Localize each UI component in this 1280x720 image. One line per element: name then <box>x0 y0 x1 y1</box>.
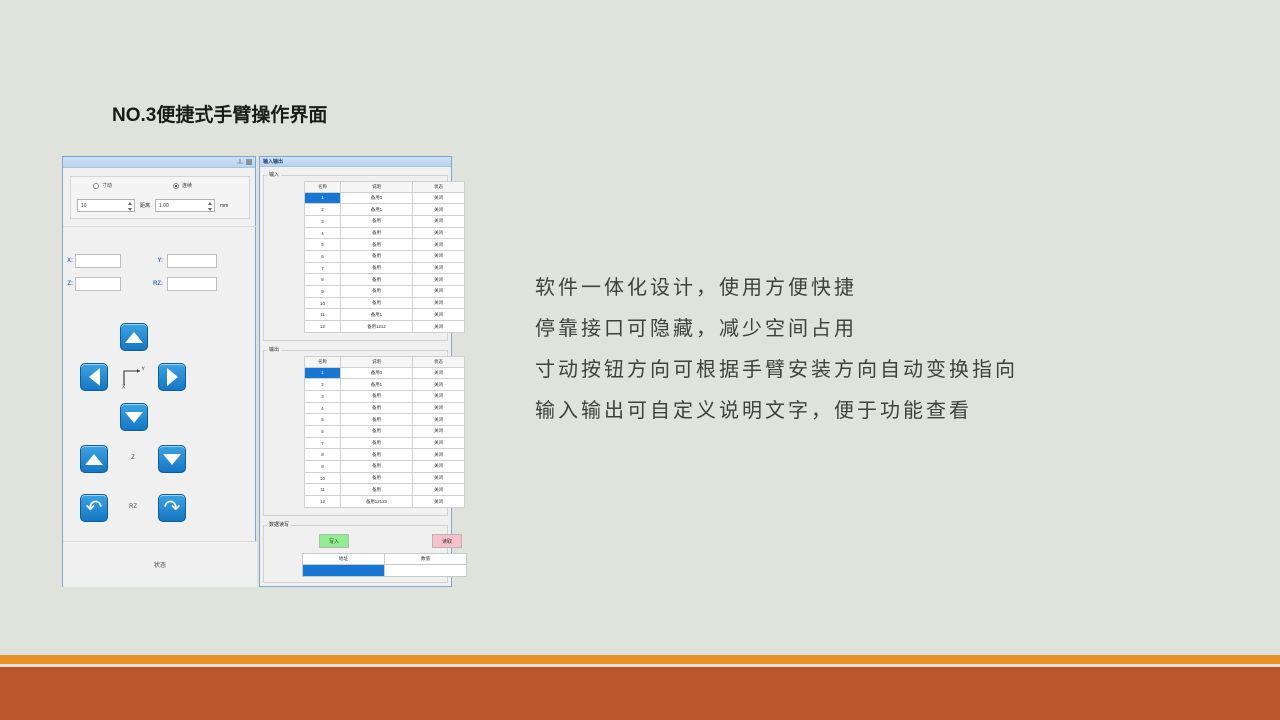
data-readwrite-group: 数据读写 写入 读取 地址 数值 <box>263 525 448 583</box>
cell-no: 10 <box>305 472 341 484</box>
cell-no: 11 <box>305 309 341 321</box>
rw-value-cell[interactable] <box>385 565 467 577</box>
cell-state: 关闭 <box>413 484 465 496</box>
cell-desc: 备用 <box>341 286 413 298</box>
xy-axis-indicator-icon: Y X <box>120 365 146 389</box>
description-line-3: 寸动按钮方向可根据手臂安装方向自动变换指向 <box>535 350 1018 391</box>
table-row[interactable]: 9备用关闭 <box>305 286 465 298</box>
cell-no: 2 <box>305 204 341 216</box>
speed-value: 10 <box>78 203 87 209</box>
table-row[interactable]: 1备用0关闭 <box>305 192 465 204</box>
cell-desc: 备用 <box>341 402 413 414</box>
jog-down-button[interactable] <box>120 403 148 431</box>
col-state: 状态 <box>413 182 465 193</box>
radio-inch-label: 寸动 <box>102 182 112 189</box>
table-row[interactable]: 9备用关闭 <box>305 461 465 473</box>
cell-state: 关闭 <box>413 215 465 227</box>
description-line-2: 停靠接口可隐藏，减少空间占用 <box>535 309 1018 350</box>
cell-desc: 备用 <box>341 449 413 461</box>
io-window: 输入输出 输入 名称 说明 状态 1备用0关闭2备用1关闭3备用关闭4备用关闭5… <box>259 156 452 587</box>
rz-axis-label: RZ <box>120 504 146 510</box>
col-state: 状态 <box>413 357 465 368</box>
jog-window-titlebar <box>63 157 255 168</box>
speed-spinner[interactable]: 10 <box>77 199 135 212</box>
table-row[interactable]: 5备用关闭 <box>305 414 465 426</box>
cell-state: 关闭 <box>413 379 465 391</box>
motion-mode-radios: 寸动 连续 <box>85 182 245 195</box>
rw-group-label: 数据读写 <box>267 521 291 528</box>
output-table[interactable]: 名称 说明 状态 1备用0关闭2备用1关闭3备用关闭4备用关闭5备用关闭6备用关… <box>304 356 465 508</box>
write-button[interactable]: 写入 <box>319 534 349 548</box>
z-label: Z: <box>63 281 73 287</box>
cell-desc: 备用 <box>341 251 413 263</box>
gold-accent-bar <box>0 655 1280 664</box>
coordinate-fields: X: Y: Z: RZ: <box>63 226 257 282</box>
table-row[interactable]: 2备用1关闭 <box>305 379 465 391</box>
cell-no: 10 <box>305 297 341 309</box>
x-field[interactable] <box>75 254 121 268</box>
rw-address-cell[interactable] <box>303 565 385 577</box>
table-row[interactable]: 12备用1212关闭 <box>305 321 465 333</box>
distance-value: 1.00 <box>156 203 169 209</box>
cell-state: 关闭 <box>413 309 465 321</box>
cell-desc: 备用 <box>341 297 413 309</box>
status-bar: 状态 <box>63 541 257 587</box>
cell-state: 关闭 <box>413 204 465 216</box>
arrow-up-icon <box>85 454 103 465</box>
input-group: 输入 名称 说明 状态 1备用0关闭2备用1关闭3备用关闭4备用关闭5备用关闭6… <box>263 175 448 341</box>
cell-no: 12 <box>305 321 341 333</box>
x-label: X: <box>63 258 73 264</box>
cell-state: 关闭 <box>413 449 465 461</box>
radio-dot-icon <box>173 183 179 189</box>
z-axis-label: Z <box>120 455 146 461</box>
application-screenshot: 寸动 连续 10 距离 1.00 <box>62 156 452 587</box>
input-table[interactable]: 名称 说明 状态 1备用0关闭2备用1关闭3备用关闭4备用关闭5备用关闭6备用关… <box>304 181 465 333</box>
cell-no: 3 <box>305 215 341 227</box>
table-row[interactable]: 5备用关闭 <box>305 239 465 251</box>
coordinate-row-zrz: Z: RZ: <box>63 276 257 292</box>
rotate-ccw-icon: ↶ <box>86 498 103 518</box>
io-window-titlebar: 输入输出 <box>260 157 451 167</box>
cell-state: 关闭 <box>413 262 465 274</box>
table-row[interactable]: 8备用关闭 <box>305 449 465 461</box>
cell-state: 关闭 <box>413 227 465 239</box>
pin-icon[interactable] <box>237 159 243 165</box>
io-window-title: 输入输出 <box>263 158 283 165</box>
close-icon[interactable] <box>246 159 252 165</box>
table-row[interactable]: 12备用12123关闭 <box>305 496 465 508</box>
table-row[interactable]: 7备用关闭 <box>305 262 465 274</box>
col-address: 地址 <box>303 554 385 565</box>
rust-footer-bar <box>0 667 1280 720</box>
cell-no: 7 <box>305 437 341 449</box>
table-row[interactable]: 1备用0关闭 <box>305 367 465 379</box>
cell-state: 关闭 <box>413 390 465 402</box>
step-settings-row: 10 距离 1.00 mm <box>77 198 245 213</box>
arrow-up-icon <box>125 332 143 343</box>
cell-no: 4 <box>305 402 341 414</box>
cell-no: 6 <box>305 251 341 263</box>
cell-state: 关闭 <box>413 192 465 204</box>
cell-state: 关闭 <box>413 496 465 508</box>
description-line-4: 输入输出可自定义说明文字，便于功能查看 <box>535 391 1018 432</box>
table-row[interactable]: 10备用关闭 <box>305 297 465 309</box>
cell-no: 5 <box>305 414 341 426</box>
col-value: 数值 <box>385 554 467 565</box>
cell-desc: 备用 <box>341 426 413 438</box>
cell-desc: 备用1 <box>341 204 413 216</box>
cell-desc: 备用 <box>341 437 413 449</box>
col-no: 名称 <box>305 182 341 193</box>
input-group-label: 输入 <box>267 171 281 178</box>
rz-field[interactable] <box>167 277 217 291</box>
cell-state: 关闭 <box>413 274 465 286</box>
cell-state: 关闭 <box>413 472 465 484</box>
cell-desc: 备用 <box>341 414 413 426</box>
output-group-label: 输出 <box>267 346 281 353</box>
table-row[interactable]: 8备用关闭 <box>305 274 465 286</box>
spinner-arrows-icon[interactable] <box>207 201 213 212</box>
cell-no: 8 <box>305 449 341 461</box>
cell-no: 6 <box>305 426 341 438</box>
cell-no: 1 <box>305 192 341 204</box>
arrow-right-icon <box>167 368 178 386</box>
cell-no: 12 <box>305 496 341 508</box>
rw-table-row[interactable] <box>303 565 467 577</box>
read-button[interactable]: 读取 <box>432 534 462 548</box>
cell-desc: 备用12123 <box>341 496 413 508</box>
rw-table[interactable]: 地址 数值 <box>302 553 467 577</box>
cell-state: 关闭 <box>413 251 465 263</box>
z-up-button[interactable] <box>80 445 108 473</box>
col-no: 名称 <box>305 357 341 368</box>
distance-label: 距离 <box>140 202 150 209</box>
cell-desc: 备用0 <box>341 367 413 379</box>
cell-state: 关闭 <box>413 321 465 333</box>
output-group: 输出 名称 说明 状态 1备用0关闭2备用1关闭3备用关闭4备用关闭5备用关闭6… <box>263 350 448 516</box>
rz-ccw-button[interactable]: ↶ <box>80 494 108 522</box>
table-row[interactable]: 4备用关闭 <box>305 402 465 414</box>
cell-desc: 备用 <box>341 484 413 496</box>
cell-no: 4 <box>305 227 341 239</box>
radio-continuous-label: 连续 <box>182 182 192 189</box>
distance-spinner[interactable]: 1.00 <box>155 199 215 212</box>
output-table-header: 名称 说明 状态 <box>305 357 465 368</box>
cell-state: 关闭 <box>413 367 465 379</box>
cell-state: 关闭 <box>413 402 465 414</box>
cell-desc: 备用 <box>341 274 413 286</box>
cell-state: 关闭 <box>413 286 465 298</box>
jog-button-cluster: Y X Z ↶ RZ ↷ <box>63 323 257 533</box>
cell-no: 7 <box>305 262 341 274</box>
radio-inch-mode[interactable]: 寸动 <box>93 182 112 189</box>
table-row[interactable]: 4备用关闭 <box>305 227 465 239</box>
page-title: NO.3便捷式手臂操作界面 <box>112 100 327 127</box>
jog-panel-body: 寸动 连续 10 距离 1.00 <box>63 168 255 587</box>
cell-no: 2 <box>305 379 341 391</box>
table-row[interactable]: 3备用关闭 <box>305 390 465 402</box>
cell-no: 3 <box>305 390 341 402</box>
radio-continuous-mode[interactable]: 连续 <box>173 182 192 189</box>
cell-state: 关闭 <box>413 297 465 309</box>
table-row[interactable]: 11备用关闭 <box>305 484 465 496</box>
cell-desc: 备用 <box>341 390 413 402</box>
jog-left-button[interactable] <box>80 363 108 391</box>
table-row[interactable]: 2备用1关闭 <box>305 204 465 216</box>
col-desc: 说明 <box>341 357 413 368</box>
col-desc: 说明 <box>341 182 413 193</box>
rw-table-header: 地址 数值 <box>303 554 467 565</box>
cell-desc: 备用 <box>341 461 413 473</box>
z-down-button[interactable] <box>158 445 186 473</box>
y-field[interactable] <box>167 254 217 268</box>
rz-label: RZ: <box>147 281 163 287</box>
status-text: 状态 <box>154 560 166 569</box>
coordinate-row-xy: X: Y: <box>63 253 257 269</box>
io-panel-body: 输入 名称 说明 状态 1备用0关闭2备用1关闭3备用关闭4备用关闭5备用关闭6… <box>260 167 451 586</box>
arrow-left-icon <box>89 368 100 386</box>
arrow-down-icon <box>125 412 143 423</box>
cell-state: 关闭 <box>413 461 465 473</box>
description-block: 软件一体化设计，使用方便快捷 停靠接口可隐藏，减少空间占用 寸动按钮方向可根据手… <box>535 268 1018 432</box>
cell-no: 5 <box>305 239 341 251</box>
table-row[interactable]: 6备用关闭 <box>305 426 465 438</box>
cell-state: 关闭 <box>413 426 465 438</box>
description-line-1: 软件一体化设计，使用方便快捷 <box>535 268 1018 309</box>
table-row[interactable]: 11备用1关闭 <box>305 309 465 321</box>
z-field[interactable] <box>75 277 121 291</box>
unit-label: mm <box>220 203 228 209</box>
cell-no: 9 <box>305 286 341 298</box>
cell-desc: 备用 <box>341 227 413 239</box>
input-table-header: 名称 说明 状态 <box>305 182 465 193</box>
cell-no: 9 <box>305 461 341 473</box>
cell-state: 关闭 <box>413 414 465 426</box>
svg-text:X: X <box>122 385 126 390</box>
cell-no: 8 <box>305 274 341 286</box>
cell-desc: 备用 <box>341 215 413 227</box>
rotate-cw-icon: ↷ <box>164 498 181 518</box>
rz-cw-button[interactable]: ↷ <box>158 494 186 522</box>
table-row[interactable]: 3备用关闭 <box>305 215 465 227</box>
cell-desc: 备用1 <box>341 309 413 321</box>
jog-window: 寸动 连续 10 距离 1.00 <box>62 156 256 587</box>
cell-desc: 备用 <box>341 262 413 274</box>
cell-desc: 备用1212 <box>341 321 413 333</box>
jog-right-button[interactable] <box>158 363 186 391</box>
motion-mode-group: 寸动 连续 10 距离 1.00 <box>70 176 250 219</box>
cell-no: 11 <box>305 484 341 496</box>
cell-state: 关闭 <box>413 239 465 251</box>
cell-no: 1 <box>305 367 341 379</box>
arrow-down-icon <box>163 454 181 465</box>
table-row[interactable]: 10备用关闭 <box>305 472 465 484</box>
spinner-arrows-icon[interactable] <box>127 201 133 212</box>
radio-dot-icon <box>93 183 99 189</box>
cell-state: 关闭 <box>413 437 465 449</box>
cell-desc: 备用 <box>341 239 413 251</box>
y-label: Y: <box>147 258 163 264</box>
cell-desc: 备用 <box>341 472 413 484</box>
cell-desc: 备用1 <box>341 379 413 391</box>
jog-up-button[interactable] <box>120 323 148 351</box>
table-row[interactable]: 7备用关闭 <box>305 437 465 449</box>
svg-text:Y: Y <box>142 367 146 373</box>
cell-desc: 备用0 <box>341 192 413 204</box>
table-row[interactable]: 6备用关闭 <box>305 251 465 263</box>
